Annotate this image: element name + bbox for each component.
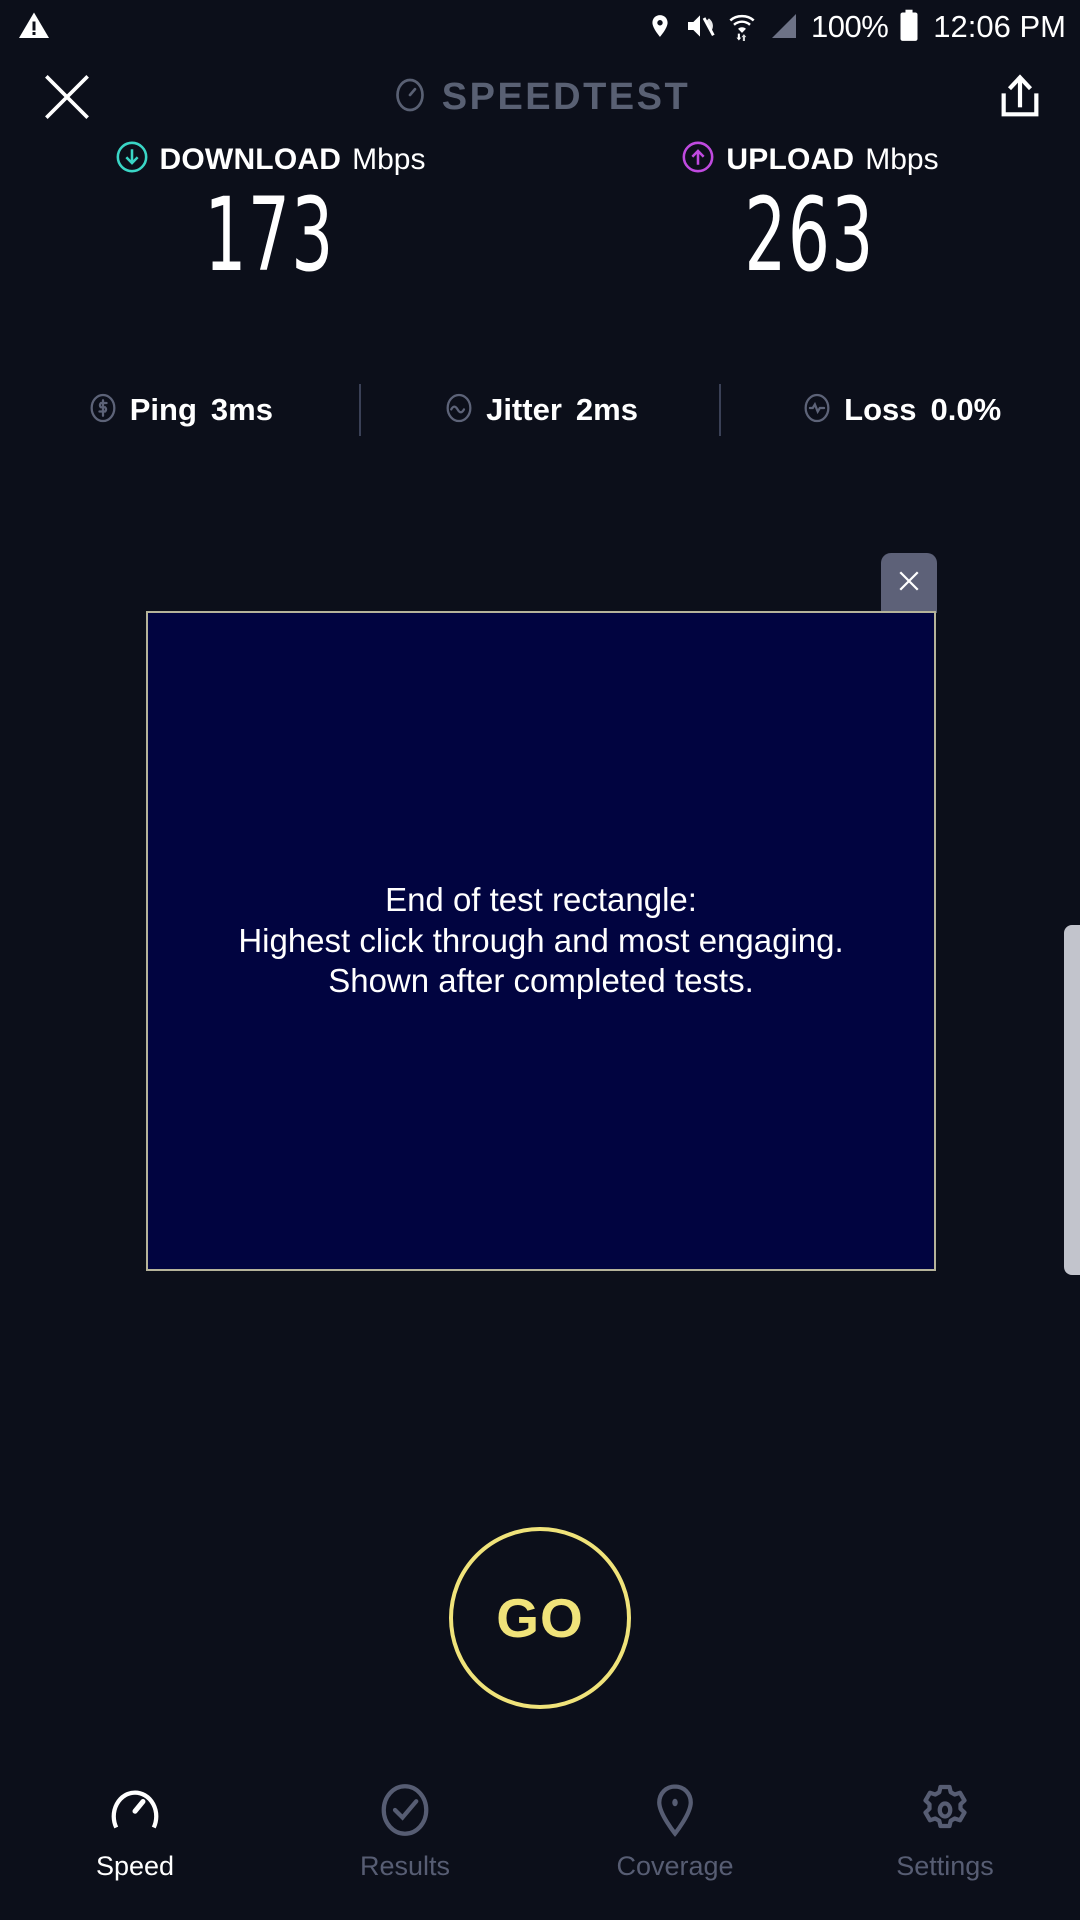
ad-banner[interactable]: End of test rectangle: Highest click thr…: [146, 611, 936, 1271]
ad-line-3: Shown after completed tests.: [148, 961, 934, 1002]
download-result: DOWNLOAD Mbps 173: [0, 140, 540, 287]
nav-label-results: Results: [360, 1851, 450, 1882]
download-unit: Mbps: [352, 143, 425, 177]
page-title: SPEEDTEST: [442, 76, 690, 119]
upload-unit: Mbps: [865, 143, 938, 177]
ad-line-1: End of test rectangle:: [148, 880, 934, 921]
nav-item-settings[interactable]: Settings: [810, 1765, 1080, 1920]
bottom-navigation-bar: Speed Results Coverage Settings: [0, 1765, 1080, 1920]
speedtest-app-screen: 100% 12:06 PM SPEEDTEST: [0, 0, 1080, 1920]
speedometer-icon: [390, 75, 430, 120]
close-icon: [894, 566, 924, 601]
share-icon[interactable]: [992, 70, 1048, 126]
nav-item-speed[interactable]: Speed: [0, 1765, 270, 1920]
warning-triangle-icon: [16, 8, 52, 44]
nav-label-settings: Settings: [896, 1851, 994, 1882]
battery-full-icon: [899, 9, 919, 43]
advertisement-container: End of test rectangle: Highest click thr…: [146, 611, 936, 1271]
location-pin-icon: [647, 10, 673, 42]
metric-loss-value: 0.0%: [931, 392, 1002, 428]
ad-text-block: End of test rectangle: Highest click thr…: [148, 880, 934, 1002]
status-bar: 100% 12:06 PM: [0, 0, 1080, 52]
results-panel: DOWNLOAD Mbps 173 UPLOAD Mbps 263: [0, 140, 1080, 287]
jitter-icon: [442, 391, 476, 430]
nav-item-coverage[interactable]: Coverage: [540, 1765, 810, 1920]
download-arrow-icon: [115, 140, 149, 179]
download-label-group: DOWNLOAD Mbps: [115, 140, 426, 179]
check-circle-icon: [375, 1779, 435, 1841]
location-pin-icon: [645, 1779, 705, 1841]
upload-result: UPLOAD Mbps 263: [540, 140, 1080, 287]
gear-icon: [915, 1779, 975, 1841]
ping-icon: [86, 391, 120, 430]
metric-jitter: Jitter 2ms: [361, 391, 720, 430]
nav-item-results[interactable]: Results: [270, 1765, 540, 1920]
metric-jitter-label: Jitter: [486, 392, 562, 428]
mute-icon: [684, 10, 716, 42]
battery-percent-label: 100%: [811, 11, 888, 42]
metric-ping: Ping 3ms: [0, 391, 359, 430]
upload-value: 263: [745, 185, 875, 287]
download-value: 173: [205, 185, 335, 287]
upload-arrow-icon: [681, 140, 715, 179]
status-bar-right-cluster: 100% 12:06 PM: [647, 0, 1066, 52]
metric-ping-value: 3ms: [211, 392, 273, 428]
clock-label: 12:06 PM: [933, 11, 1066, 42]
upload-label: UPLOAD: [726, 143, 854, 177]
cellular-signal-icon: [768, 10, 800, 42]
metric-ping-label: Ping: [130, 392, 197, 428]
metric-loss: Loss 0.0%: [721, 391, 1080, 430]
go-button[interactable]: GO: [449, 1527, 631, 1709]
go-button-label: GO: [496, 1586, 584, 1650]
wifi-icon: [727, 10, 757, 42]
speed-values-row: DOWNLOAD Mbps 173 UPLOAD Mbps 263: [0, 140, 1080, 287]
loss-icon: [800, 391, 834, 430]
ad-line-2: Highest click through and most engaging.: [148, 921, 934, 962]
nav-label-speed: Speed: [96, 1851, 174, 1882]
metric-loss-label: Loss: [844, 392, 916, 428]
upload-label-group: UPLOAD Mbps: [681, 140, 938, 179]
download-label: DOWNLOAD: [160, 143, 342, 177]
ad-close-button[interactable]: [881, 553, 937, 613]
app-title-group: SPEEDTEST: [0, 58, 1080, 136]
speedometer-icon: [105, 1779, 165, 1841]
metric-jitter-value: 2ms: [576, 392, 638, 428]
vertical-scrollbar[interactable]: [1064, 925, 1080, 1275]
nav-label-coverage: Coverage: [616, 1851, 733, 1882]
app-header: SPEEDTEST: [0, 58, 1080, 136]
network-metrics-row: Ping 3ms Jitter 2ms Loss 0.0%: [0, 380, 1080, 440]
